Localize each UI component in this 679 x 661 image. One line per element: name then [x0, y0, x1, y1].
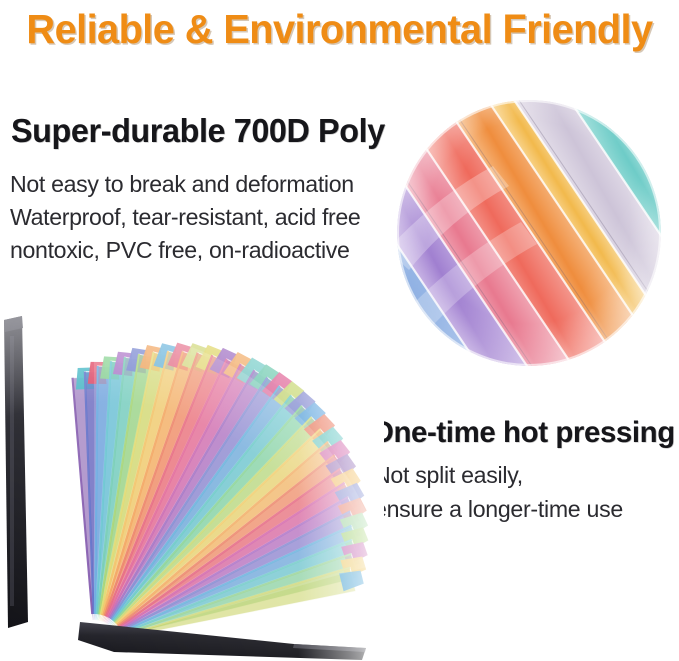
expanding-file-folder-photo: [0, 292, 384, 661]
feature-heading-left: Super-durable 700D Poly: [11, 111, 385, 151]
feature-heading-right: One-time hot pressing: [371, 414, 675, 452]
banner-title: Reliable & Environmental Friendly: [10, 6, 669, 52]
closeup-circle-svg: [397, 100, 661, 366]
feature-body-right-line-2: ensure a longer-time use: [374, 492, 623, 526]
promo-image-canvas: Reliable & Environmental Friendly: [0, 0, 679, 661]
fan-svg: [0, 292, 384, 661]
feature-body-right-line-1: Not split easily,: [374, 458, 623, 492]
feature-body-left-line-1: Not easy to break and deformation: [10, 168, 360, 201]
feature-body-right: Not split easily, ensure a longer-time u…: [374, 458, 623, 526]
feature-body-left-line-2: Waterproof, tear-resistant, acid free: [10, 201, 360, 234]
feature-body-left-line-3: nontoxic, PVC free, on-radioactive: [10, 234, 360, 267]
feature-body-left: Not easy to break and deformation Waterp…: [10, 168, 360, 267]
closeup-circle-image: [397, 100, 661, 366]
